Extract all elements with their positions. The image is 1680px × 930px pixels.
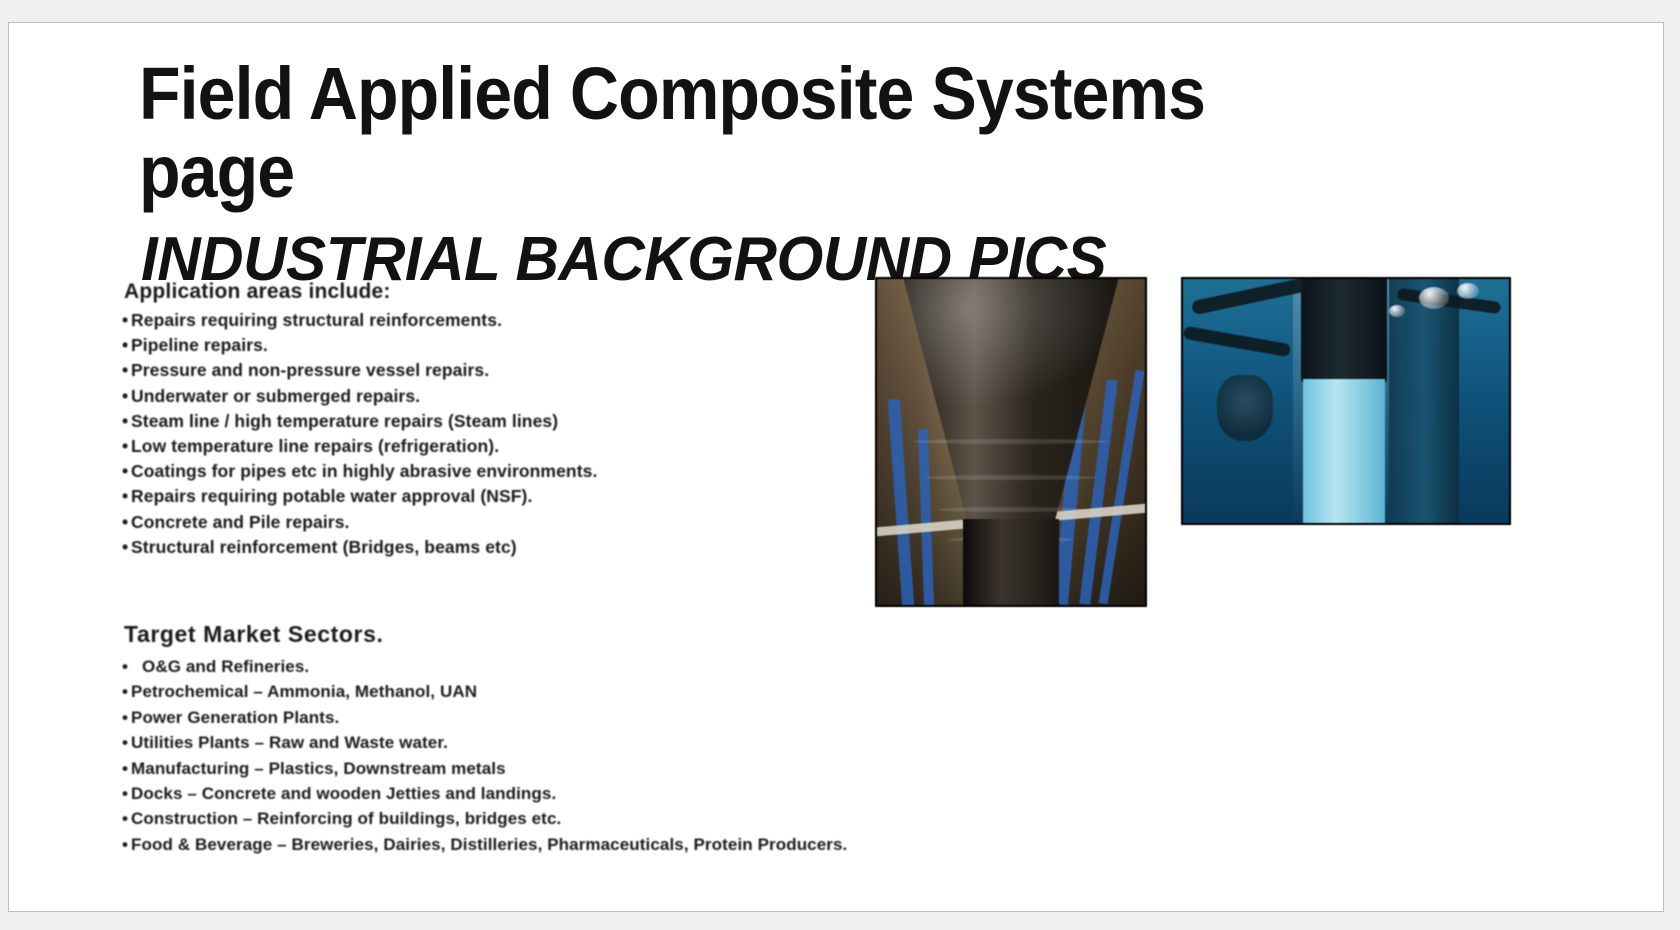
page-title: Field Applied Composite Systems page [139,55,1335,211]
list-item: •Pipeline repairs. [122,333,952,358]
bullet-glyph: • [122,510,131,535]
list-item: •Power Generation Plants. [122,705,952,730]
bullet-glyph: • [122,409,131,434]
air-bubble [1457,283,1479,299]
application-areas-list: •Repairs requiring structural reinforcem… [122,308,952,560]
list-item-label: Repairs requiring potable water approval… [131,486,532,506]
air-bubble [1389,305,1405,317]
list-item-label: Food & Beverage – Breweries, Dairies, Di… [131,835,847,854]
pile-lower-wrapped-section [1303,379,1385,525]
bullet-glyph: • [122,308,131,333]
bullet-glyph: • [122,705,131,730]
bullet-glyph: • [122,459,131,484]
list-item: •Food & Beverage – Breweries, Dairies, D… [122,832,952,857]
bullet-glyph: • [122,679,131,704]
bullet-glyph: • [122,535,131,560]
list-item-label: Coatings for pipes etc in highly abrasiv… [131,461,597,481]
list-item-label: Steam line / high temperature repairs (S… [131,411,558,431]
list-item: •Underwater or submerged repairs. [122,384,952,409]
list-item-label: Construction – Reinforcing of buildings,… [131,809,561,828]
list-item: •Steam line / high temperature repairs (… [122,409,952,434]
body-text-column: Application areas include: •Repairs requ… [122,279,952,857]
application-areas-heading: Application areas include: [124,279,952,304]
bullet-glyph: • [122,756,131,781]
bullet-glyph: • [122,654,142,679]
list-item-label: Concrete and Pile repairs. [131,512,350,532]
list-item: •Concrete and Pile repairs. [122,510,952,535]
list-item-label: Manufacturing – Plastics, Downstream met… [131,759,506,778]
bullet-glyph: • [122,384,131,409]
list-item-label: Repairs requiring structural reinforceme… [131,310,502,330]
list-item-label: Pipeline repairs. [131,335,268,355]
pipe-photo-content [877,279,1145,605]
list-item-label: Low temperature line repairs (refrigerat… [131,436,499,456]
slide-canvas: Field Applied Composite Systems page IND… [8,22,1664,912]
air-bubble [1419,287,1449,309]
pile-upper-dark-section [1301,277,1387,383]
underwater-pile-repair-photo [1181,277,1511,525]
diver-silhouette [1217,375,1273,441]
bullet-glyph: • [122,806,131,831]
wrap-ring [925,475,1097,480]
list-item-label: Utilities Plants – Raw and Waste water. [131,733,448,752]
bullet-glyph: • [122,730,131,755]
list-item: •Docks – Concrete and wooden Jetties and… [122,781,952,806]
list-item-label: Petrochemical – Ammonia, Methanol, UAN [131,682,477,701]
bullet-glyph: • [122,434,131,459]
list-item: •Manufacturing – Plastics, Downstream me… [122,756,952,781]
scaffold-bar [888,399,914,607]
list-item: •Construction – Reinforcing of buildings… [122,806,952,831]
list-item-label: Docks – Concrete and wooden Jetties and … [131,784,556,803]
bullet-glyph: • [122,333,131,358]
list-item: •Repairs requiring structural reinforcem… [122,308,952,333]
list-item: •Pressure and non-pressure vessel repair… [122,358,952,383]
wrap-ring [937,507,1085,512]
bullet-glyph: • [122,358,131,383]
list-item: •Coatings for pipes etc in highly abrasi… [122,459,952,484]
wrap-ring [913,439,1109,444]
bullet-glyph: • [122,781,131,806]
list-item: •Repairs requiring potable water approva… [122,484,952,509]
list-item: •Structural reinforcement (Bridges, beam… [122,535,952,560]
section-spacer [122,560,952,620]
title-block: Field Applied Composite Systems page [139,55,1439,211]
list-item-label: O&G and Refineries. [142,657,309,676]
target-market-sectors-heading: Target Market Sectors. [124,620,952,648]
list-item-label: Underwater or submerged repairs. [131,386,420,406]
list-item: •O&G and Refineries. [122,654,952,679]
air-hose [1183,326,1292,358]
slide-page: Field Applied Composite Systems page IND… [0,0,1680,930]
lower-pipe-section [963,519,1059,605]
list-item: •Low temperature line repairs (refrigera… [122,434,952,459]
list-item-label: Structural reinforcement (Bridges, beams… [131,537,517,557]
bullet-glyph: • [122,484,131,509]
list-item: •Petrochemical – Ammonia, Methanol, UAN [122,679,952,704]
pipe-wrap-repair-photo [875,277,1147,607]
scaffold-bar [918,429,934,607]
list-item: •Utilities Plants – Raw and Waste water. [122,730,952,755]
bullet-glyph: • [122,832,131,857]
target-market-sectors-list: •O&G and Refineries. •Petrochemical – Am… [122,654,952,857]
list-item-label: Pressure and non-pressure vessel repairs… [131,360,489,380]
list-item-label: Power Generation Plants. [131,708,339,727]
underwater-photo-content [1183,279,1509,523]
